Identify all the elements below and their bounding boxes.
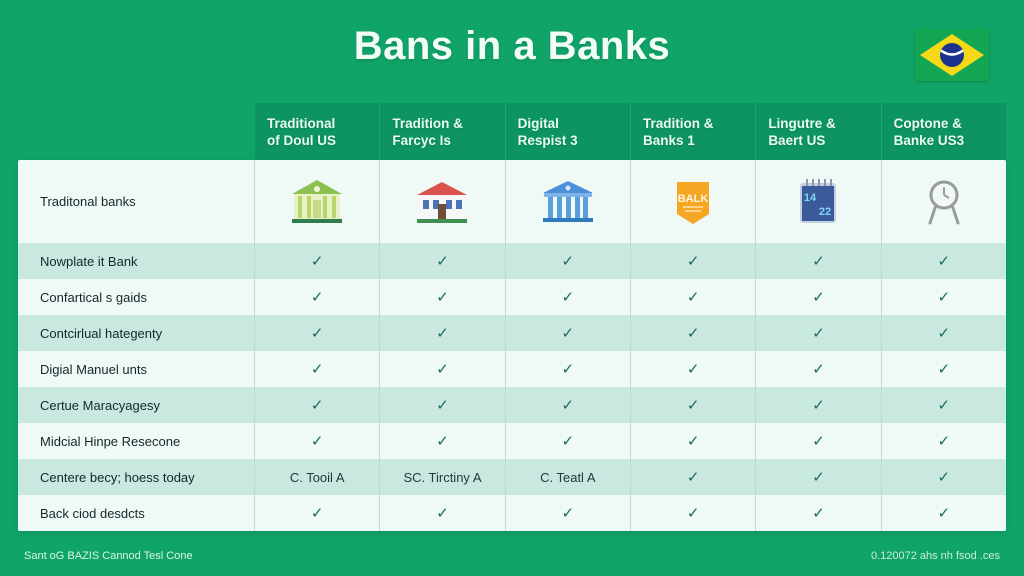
column-header-4-line2: Banks 1 — [643, 132, 743, 149]
table-cell: ✓ — [255, 387, 380, 423]
column-header-5-line1: Lingutre & — [768, 115, 868, 132]
check-icon: ✓ — [938, 470, 951, 485]
table-cell: ✓ — [380, 243, 505, 279]
bank-building-blue-icon — [539, 174, 597, 230]
check-icon: ✓ — [812, 254, 825, 269]
table-row: Centere becy; hoess today C. Tooil A SC.… — [18, 459, 1006, 495]
cell-icon-1 — [255, 160, 380, 243]
table-cell: ✓ — [882, 243, 1006, 279]
check-icon: ✓ — [812, 434, 825, 449]
check-icon: ✓ — [687, 506, 700, 521]
cell-text: C. Tooil A — [290, 470, 345, 485]
calendar-bottom-number: 22 — [819, 206, 831, 218]
table-cell: ✓ — [506, 495, 631, 531]
table-cell: ✓ — [631, 495, 756, 531]
check-icon: ✓ — [562, 362, 575, 377]
row-label: Digial Manuel unts — [18, 351, 255, 387]
row-label: Contcirlual hategenty — [18, 315, 255, 351]
check-icon: ✓ — [812, 506, 825, 521]
table-cell: C. Teatl A — [506, 459, 631, 495]
calendar-top-number: 14 — [804, 192, 817, 204]
check-icon: ✓ — [812, 470, 825, 485]
row-label: Nowplate it Bank — [18, 243, 255, 279]
table-cell: ✓ — [631, 315, 756, 351]
table-cell: ✓ — [255, 279, 380, 315]
table-cell: C. Tooil A — [255, 459, 380, 495]
check-icon: ✓ — [436, 506, 449, 521]
table-cell: ✓ — [380, 423, 505, 459]
footer-left-text: Sant oG BAZIS Cannod Tesl Cone — [24, 550, 193, 562]
check-icon: ✓ — [938, 434, 951, 449]
table-row: Digial Manuel unts ✓ ✓ ✓ ✓ ✓ ✓ — [18, 351, 1006, 387]
column-header-5[interactable]: Lingutre & Baert US — [756, 103, 881, 160]
table-cell: ✓ — [255, 423, 380, 459]
footer-right-text: 0.120072 ahs nh fsod .ces — [871, 550, 1000, 562]
check-icon: ✓ — [562, 506, 575, 521]
column-header-1[interactable]: Traditional of Doul US — [255, 103, 380, 160]
cell-icon-3 — [506, 160, 631, 243]
check-icon: ✓ — [938, 290, 951, 305]
table-cell: ✓ — [756, 243, 881, 279]
check-icon: ✓ — [311, 434, 324, 449]
column-header-5-line2: Baert US — [768, 132, 868, 149]
table-cell: ✓ — [631, 387, 756, 423]
row-label: Back ciod desdcts — [18, 495, 255, 531]
check-icon: ✓ — [311, 362, 324, 377]
table-row: Contcirlual hategenty ✓ ✓ ✓ ✓ ✓ ✓ — [18, 315, 1006, 351]
column-header-6-line1: Coptone & — [894, 115, 994, 132]
check-icon: ✓ — [311, 290, 324, 305]
check-icon: ✓ — [436, 398, 449, 413]
cell-icon-2 — [380, 160, 505, 243]
check-icon: ✓ — [687, 254, 700, 269]
row-label: Midcial Hinpe Resecone — [18, 423, 255, 459]
table-cell: ✓ — [380, 387, 505, 423]
table-cell: ✓ — [506, 423, 631, 459]
cell-icon-6 — [882, 160, 1006, 243]
table-cell: ✓ — [506, 387, 631, 423]
row-label: Confartical s gaids — [18, 279, 255, 315]
check-icon: ✓ — [311, 326, 324, 341]
table-cell: ✓ — [756, 423, 881, 459]
check-icon: ✓ — [687, 362, 700, 377]
table-row: Certue Maracyagesy ✓ ✓ ✓ ✓ ✓ ✓ — [18, 387, 1006, 423]
table-cell: ✓ — [882, 387, 1006, 423]
table-cell: ✓ — [882, 495, 1006, 531]
bank-building-red-icon — [413, 174, 471, 230]
column-header-3[interactable]: Digital Respist 3 — [506, 103, 631, 160]
column-header-2-line2: Farcyc Is — [392, 132, 492, 149]
check-icon: ✓ — [812, 398, 825, 413]
row-label: Certue Maracyagesy — [18, 387, 255, 423]
page-title: Bans in a Banks — [0, 22, 1024, 70]
table-cell: ✓ — [255, 351, 380, 387]
table-cell: SC. Tirctiny A — [380, 459, 505, 495]
table-cell: ✓ — [882, 279, 1006, 315]
table-cell: ✓ — [756, 279, 881, 315]
table-cell: ✓ — [380, 351, 505, 387]
check-icon: ✓ — [687, 434, 700, 449]
table-cell: ✓ — [756, 495, 881, 531]
check-icon: ✓ — [687, 398, 700, 413]
comparison-table: Traditional of Doul US Tradition & Farcy… — [18, 103, 1006, 531]
check-icon: ✓ — [436, 434, 449, 449]
cell-icon-4: BALK — [631, 160, 756, 243]
check-icon: ✓ — [436, 254, 449, 269]
column-header-4[interactable]: Tradition & Banks 1 — [631, 103, 756, 160]
table-cell: ✓ — [631, 459, 756, 495]
table-header-row: Traditional of Doul US Tradition & Farcy… — [18, 103, 1006, 160]
title-bar: Bans in a Banks — [0, 22, 1024, 70]
check-icon: ✓ — [687, 326, 700, 341]
table-cell: ✓ — [756, 351, 881, 387]
clock-caliper-icon — [915, 174, 973, 230]
table-cell: ✓ — [506, 315, 631, 351]
table-cell: ✓ — [506, 279, 631, 315]
row-label-header — [18, 103, 255, 160]
table-row: Back ciod desdcts ✓ ✓ ✓ ✓ ✓ ✓ — [18, 495, 1006, 531]
brazil-flag-icon — [915, 29, 989, 81]
bank-building-green-icon — [288, 174, 346, 230]
table-row: Confartical s gaids ✓ ✓ ✓ ✓ ✓ ✓ — [18, 279, 1006, 315]
table-cell: ✓ — [506, 243, 631, 279]
check-icon: ✓ — [562, 398, 575, 413]
column-header-2[interactable]: Tradition & Farcyc Is — [380, 103, 505, 160]
table-cell: ✓ — [255, 315, 380, 351]
check-icon: ✓ — [436, 290, 449, 305]
column-header-4-line1: Tradition & — [643, 115, 743, 132]
table-cell: ✓ — [255, 495, 380, 531]
row-label: Centere becy; hoess today — [18, 459, 255, 495]
check-icon: ✓ — [938, 362, 951, 377]
check-icon: ✓ — [562, 326, 575, 341]
check-icon: ✓ — [436, 362, 449, 377]
table-cell: ✓ — [756, 387, 881, 423]
cell-text: C. Teatl A — [540, 470, 595, 485]
table-body: Traditonal banks — [18, 160, 1006, 531]
table-cell: ✓ — [756, 459, 881, 495]
table-cell: ✓ — [756, 315, 881, 351]
table-cell: ✓ — [631, 423, 756, 459]
table-row: Nowplate it Bank ✓ ✓ ✓ ✓ ✓ ✓ — [18, 243, 1006, 279]
table-row: Midcial Hinpe Resecone ✓ ✓ ✓ ✓ ✓ ✓ — [18, 423, 1006, 459]
check-icon: ✓ — [938, 506, 951, 521]
balk-badge-icon: BALK — [664, 174, 722, 230]
check-icon: ✓ — [938, 326, 951, 341]
column-header-1-line1: Traditional — [267, 115, 367, 132]
table-cell: ✓ — [631, 243, 756, 279]
column-header-3-line2: Respist 3 — [518, 132, 618, 149]
check-icon: ✓ — [812, 362, 825, 377]
check-icon: ✓ — [562, 254, 575, 269]
balk-badge-label: BALK — [678, 193, 709, 205]
cell-text: SC. Tirctiny A — [403, 470, 481, 485]
table-cell: ✓ — [882, 315, 1006, 351]
check-icon: ✓ — [562, 434, 575, 449]
check-icon: ✓ — [812, 326, 825, 341]
table-cell: ✓ — [631, 279, 756, 315]
check-icon: ✓ — [311, 506, 324, 521]
column-header-2-line1: Tradition & — [392, 115, 492, 132]
table-cell: ✓ — [882, 459, 1006, 495]
table-cell: ✓ — [255, 243, 380, 279]
column-header-6-line2: Banke US3 — [894, 132, 994, 149]
check-icon: ✓ — [687, 290, 700, 305]
column-header-6[interactable]: Coptone & Banke US3 — [882, 103, 1006, 160]
table-cell: ✓ — [882, 351, 1006, 387]
calendar-icon: 14 22 — [789, 174, 847, 230]
table-cell: ✓ — [631, 351, 756, 387]
table-cell: ✓ — [380, 279, 505, 315]
cell-icon-5: 14 22 — [756, 160, 881, 243]
brazil-flag-svg — [915, 29, 989, 81]
check-icon: ✓ — [562, 290, 575, 305]
table-cell: ✓ — [380, 315, 505, 351]
table-cell: ✓ — [882, 423, 1006, 459]
check-icon: ✓ — [436, 326, 449, 341]
check-icon: ✓ — [311, 254, 324, 269]
table-cell: ✓ — [506, 351, 631, 387]
table-cell: ✓ — [380, 495, 505, 531]
column-header-3-line1: Digital — [518, 115, 618, 132]
table-row-icons: Traditonal banks — [18, 160, 1006, 243]
check-icon: ✓ — [812, 290, 825, 305]
footer: Sant oG BAZIS Cannod Tesl Cone 0.120072 … — [0, 550, 1024, 562]
check-icon: ✓ — [311, 398, 324, 413]
column-header-1-line2: of Doul US — [267, 132, 367, 149]
row-label-icons: Traditonal banks — [18, 160, 255, 243]
check-icon: ✓ — [687, 470, 700, 485]
check-icon: ✓ — [938, 398, 951, 413]
check-icon: ✓ — [938, 254, 951, 269]
